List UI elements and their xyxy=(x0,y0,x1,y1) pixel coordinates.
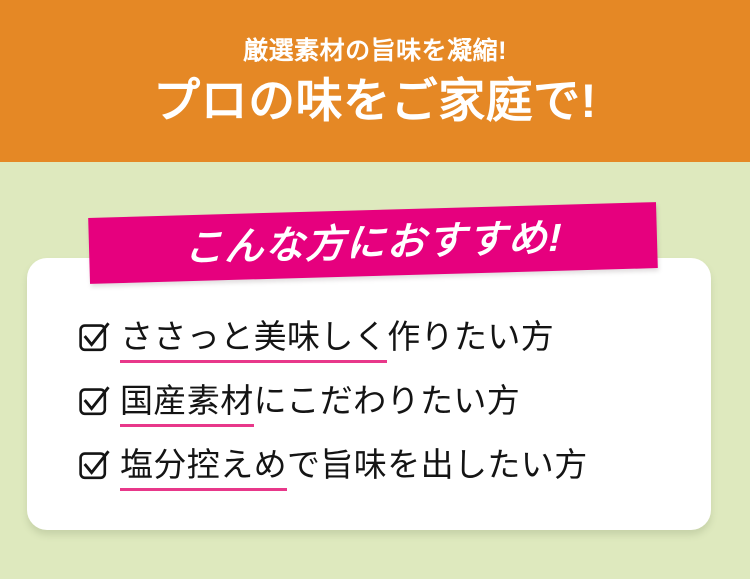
list-item-highlight: 塩分控えめ xyxy=(120,443,287,487)
list-item: 国産素材にこだわりたい方 xyxy=(79,379,689,443)
list-item-highlight: ささっと美味しく xyxy=(120,315,387,359)
checkbox-checked-icon xyxy=(79,322,109,352)
list-item-text: ささっと美味しく作りたい方 xyxy=(120,315,554,359)
recommendation-banner-label: こんな方におすすめ! xyxy=(183,218,563,268)
list-item-text: 塩分控えめで旨味を出したい方 xyxy=(120,443,588,487)
list-item: 塩分控えめで旨味を出したい方 xyxy=(79,443,689,507)
list-item-highlight: 国産素材 xyxy=(120,379,254,423)
header-band: 厳選素材の旨味を凝縮! プロの味をご家庭で! xyxy=(0,0,750,162)
checkbox-checked-icon xyxy=(79,386,109,416)
list-item: ささっと美味しく作りたい方 xyxy=(79,315,689,379)
body-area: ささっと美味しく作りたい方 国産素材にこだわりたい方 xyxy=(0,162,750,579)
checklist: ささっと美味しく作りたい方 国産素材にこだわりたい方 xyxy=(79,315,689,507)
checkbox-checked-icon xyxy=(79,450,109,480)
list-item-rest: にこだわりたい方 xyxy=(254,382,521,419)
list-item-rest: で旨味を出したい方 xyxy=(287,446,588,483)
list-item-rest: 作りたい方 xyxy=(387,318,554,355)
list-item-text: 国産素材にこだわりたい方 xyxy=(120,379,520,423)
recommendation-card: ささっと美味しく作りたい方 国産素材にこだわりたい方 xyxy=(27,258,711,530)
header-title: プロの味をご家庭で! xyxy=(153,77,597,124)
header-subtitle: 厳選素材の旨味を凝縮! xyxy=(243,39,507,64)
